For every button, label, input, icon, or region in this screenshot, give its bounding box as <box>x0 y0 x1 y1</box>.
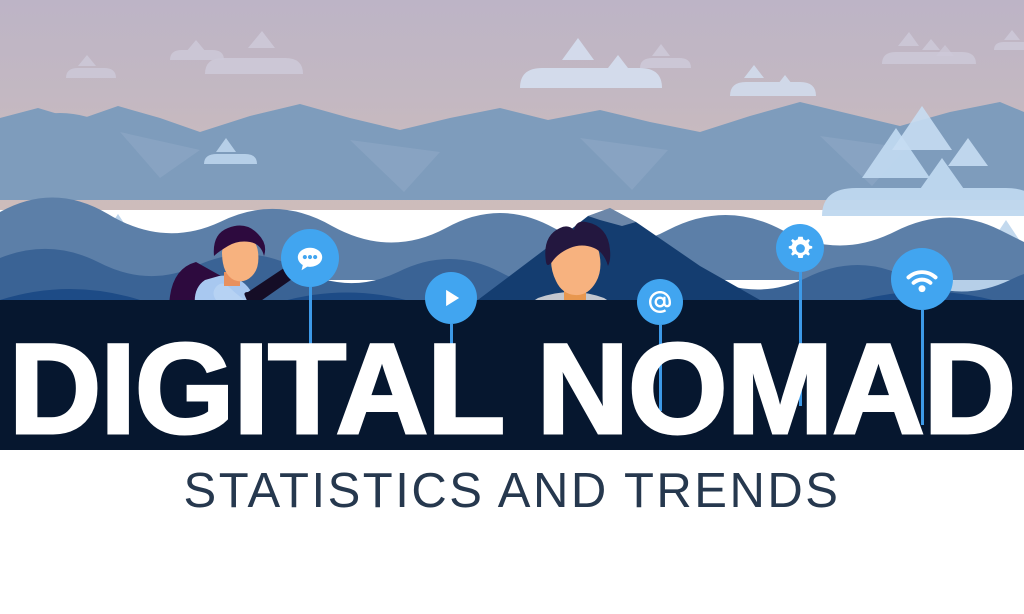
wifi-glyph <box>904 261 940 297</box>
page-title: DIGITAL NOMAD <box>0 330 1024 450</box>
at-email-glyph <box>647 289 673 315</box>
wifi-icon[interactable] <box>891 248 953 310</box>
chat-bubble-glyph <box>295 243 325 273</box>
sky-clouds <box>66 30 1024 96</box>
gear-icon[interactable] <box>776 224 824 272</box>
page-subtitle: STATISTICS AND TRENDS <box>0 462 1024 520</box>
gear-glyph <box>787 235 814 262</box>
play-icon[interactable] <box>425 272 477 324</box>
play-glyph <box>438 285 464 311</box>
poster-canvas: DIGITAL NOMAD STATISTICS AND TRENDS <box>0 0 1024 614</box>
chat-bubble-icon[interactable] <box>281 229 339 287</box>
